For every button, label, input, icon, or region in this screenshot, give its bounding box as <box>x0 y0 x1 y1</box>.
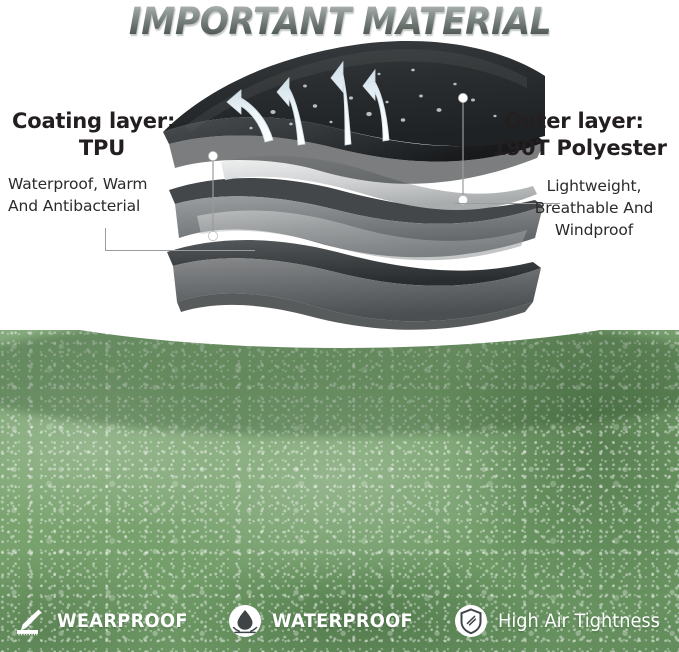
callout-dot-tpu-top <box>208 151 217 160</box>
callout-right-body: Lightweight, Breathable And Windproof <box>492 175 679 241</box>
callout-right-body-line3: Windproof <box>555 221 633 239</box>
callout-left-body-line1: Waterproof, Warm <box>8 175 147 193</box>
abrasion-tool-icon <box>12 603 48 639</box>
feature-wearproof: WEARPROOF <box>12 603 193 639</box>
feature-air-tightness-label: High Air Tightness <box>498 611 660 632</box>
infographic-page: IMPORTANT MATERIAL Coating layer: TPU Wa… <box>0 0 679 652</box>
callout-left-heading-line2: TPU <box>0 135 200 162</box>
callout-dot-outer-top <box>458 93 467 102</box>
callout-outer-layer: Outer layer: 190T Polyester Lightweight,… <box>492 108 679 241</box>
three-layer-fabric-illustration <box>155 40 545 340</box>
callout-right-heading-line2: 190T Polyester <box>492 135 679 162</box>
title-container: IMPORTANT MATERIAL <box>0 2 679 42</box>
callout-right-heading-line1: Outer layer: <box>492 108 679 135</box>
callout-right-body-line2: Breathable And <box>535 199 654 217</box>
feature-waterproof: WATERPROOF <box>227 603 419 639</box>
callout-right-body-line1: Lightweight, <box>547 177 642 195</box>
feature-waterproof-label: WATERPROOF <box>272 611 413 632</box>
callout-left-heading-line1: Coating layer: <box>0 108 200 135</box>
page-title: IMPORTANT MATERIAL <box>128 2 550 42</box>
leader-line-left-horizontal <box>105 250 255 251</box>
callout-coating-layer: Coating layer: TPU Waterproof, Warm And … <box>0 108 200 217</box>
callout-dot-tpu-bottom <box>208 231 217 240</box>
feature-badges: WEARPROOF WATERPROOF <box>0 598 679 644</box>
feature-air-tightness: High Air Tightness <box>453 603 667 639</box>
shield-icon <box>453 603 489 639</box>
callout-right-heading: Outer layer: 190T Polyester <box>492 108 679 162</box>
leader-line-left-vertical <box>105 228 106 251</box>
callout-left-body-line2: And Antibacterial <box>8 197 140 215</box>
callout-left-body: Waterproof, Warm And Antibacterial <box>0 173 200 217</box>
water-droplet-icon <box>227 603 263 639</box>
feature-wearproof-label: WEARPROOF <box>57 611 188 632</box>
callout-left-heading: Coating layer: TPU <box>0 108 200 162</box>
